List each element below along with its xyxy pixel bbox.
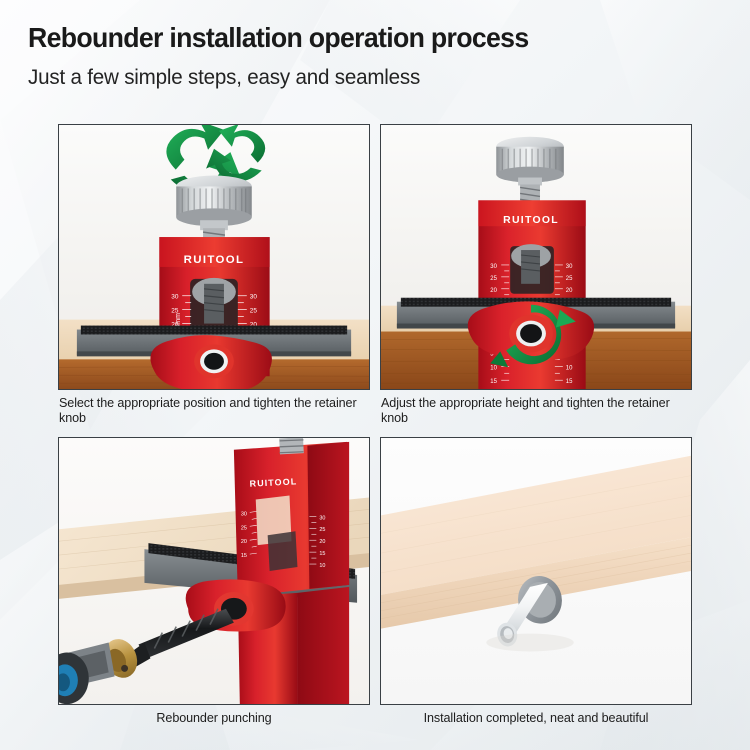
steps-grid: RUITOOL 3025 2015 8mm bbox=[0, 0, 750, 750]
step-panel-3[interactable]: RUITOOL 3025 2015 3025 bbox=[58, 437, 370, 705]
step-1-caption: Select the appropriate position and tigh… bbox=[59, 396, 359, 427]
svg-text:10: 10 bbox=[566, 365, 573, 371]
svg-text:20: 20 bbox=[241, 539, 247, 545]
brand-label: RUITOOL bbox=[184, 254, 245, 266]
svg-text:25: 25 bbox=[319, 527, 325, 533]
jig-body: RUITOOL 3025 2015 3025 bbox=[234, 442, 349, 704]
scene-finished-rebounder bbox=[381, 438, 691, 704]
knurled-knob bbox=[496, 137, 564, 186]
svg-text:20: 20 bbox=[319, 539, 325, 545]
svg-text:15: 15 bbox=[241, 553, 247, 559]
step-4-image-frame bbox=[380, 437, 692, 705]
svg-text:25: 25 bbox=[241, 525, 247, 531]
brand-label: RUITOOL bbox=[503, 215, 559, 226]
svg-text:30: 30 bbox=[490, 264, 497, 270]
svg-text:15: 15 bbox=[566, 379, 573, 385]
step-panel-4[interactable]: Installation completed, neat and beautif… bbox=[380, 437, 692, 705]
step-2-image-frame: RUITOOL 3025 2015 3025 2015 bbox=[380, 124, 692, 390]
step-4-caption: Installation completed, neat and beautif… bbox=[380, 711, 692, 726]
knurled-knob bbox=[176, 176, 252, 231]
page-header: Rebounder installation operation process… bbox=[28, 22, 544, 90]
page-title: Rebounder installation operation process bbox=[28, 22, 529, 54]
svg-text:10: 10 bbox=[319, 563, 325, 569]
svg-text:10: 10 bbox=[490, 365, 497, 371]
cam-lever bbox=[150, 335, 272, 389]
step-3-caption: Rebounder punching bbox=[58, 711, 370, 726]
step-panel-2[interactable]: RUITOOL 3025 2015 3025 2015 bbox=[380, 124, 692, 390]
step-1-image-frame: RUITOOL 3025 2015 8mm bbox=[58, 124, 370, 390]
step-2-caption: Adjust the appropriate height and tighte… bbox=[381, 396, 681, 427]
svg-text:30: 30 bbox=[566, 264, 573, 270]
threaded-shaft bbox=[279, 438, 304, 454]
scene-knob-rotation-on-rail: RUITOOL 3025 2015 8mm bbox=[59, 125, 369, 389]
svg-text:25: 25 bbox=[566, 276, 573, 282]
svg-text:25: 25 bbox=[490, 276, 497, 282]
step-panel-1[interactable]: RUITOOL 3025 2015 8mm bbox=[58, 124, 370, 390]
svg-text:20: 20 bbox=[566, 288, 573, 294]
scene-cam-lever-rotation: RUITOOL 3025 2015 3025 2015 bbox=[381, 125, 691, 389]
svg-text:25: 25 bbox=[250, 308, 258, 315]
svg-text:30: 30 bbox=[319, 515, 325, 521]
page-subtitle: Just a few simple steps, easy and seamle… bbox=[28, 66, 534, 90]
step-3-image-frame: RUITOOL 3025 2015 3025 bbox=[58, 437, 370, 705]
svg-text:20: 20 bbox=[490, 288, 497, 294]
svg-text:30: 30 bbox=[171, 294, 179, 301]
scene-drilling-with-jig: RUITOOL 3025 2015 3025 bbox=[59, 438, 369, 704]
svg-text:15: 15 bbox=[490, 379, 497, 385]
svg-text:30: 30 bbox=[241, 511, 247, 517]
svg-text:15: 15 bbox=[319, 551, 325, 557]
svg-text:30: 30 bbox=[250, 294, 258, 301]
